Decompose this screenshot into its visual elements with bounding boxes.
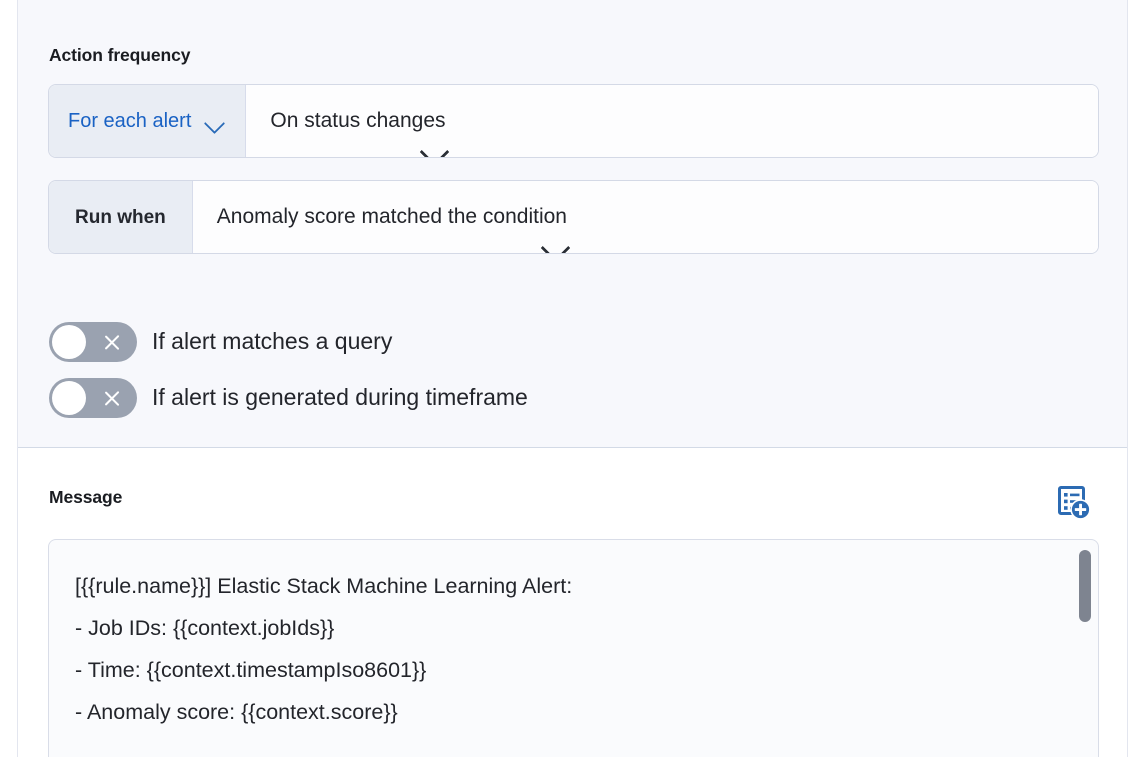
chevron-down-icon <box>204 115 226 128</box>
message-textarea-wrapper[interactable]: [{{rule.name}}] Elastic Stack Machine Le… <box>49 540 1098 757</box>
action-frequency-heading: Action frequency <box>49 44 190 67</box>
toggle-knob <box>52 325 86 359</box>
message-scrollbar[interactable] <box>1078 546 1092 757</box>
toggle-label-alert-matches-query: If alert matches a query <box>152 328 392 356</box>
frequency-field-row: For each alert On status changes <box>49 85 1098 157</box>
toggle-row-alert-matches-query: If alert matches a query <box>49 322 392 362</box>
run-when-field-row: Run when Anomaly score matched the condi… <box>49 181 1098 253</box>
action-flyout-panel: Action frequency For each alert On statu… <box>17 0 1128 757</box>
close-icon <box>103 389 122 408</box>
run-when-select[interactable]: Anomaly score matched the condition <box>193 181 1098 253</box>
frequency-select[interactable]: On status changes <box>246 85 1098 157</box>
for-each-alert-label: For each alert <box>68 111 191 131</box>
toggle-label-alert-timeframe: If alert is generated during timeframe <box>152 384 528 412</box>
add-variable-icon <box>1057 486 1091 520</box>
toggle-alert-matches-query[interactable] <box>49 322 137 362</box>
for-each-alert-dropdown-button[interactable]: For each alert <box>49 85 246 157</box>
chevron-down-icon <box>420 140 450 157</box>
add-variable-icon-button[interactable] <box>1057 486 1091 520</box>
run-when-selected-value: Anomaly score matched the condition <box>217 204 567 229</box>
toggle-row-alert-timeframe: If alert is generated during timeframe <box>49 378 528 418</box>
message-textarea[interactable]: [{{rule.name}}] Elastic Stack Machine Le… <box>75 565 1050 733</box>
frequency-selected-value: On status changes <box>270 108 445 133</box>
toggle-knob <box>52 381 86 415</box>
run-when-label: Run when <box>75 208 166 227</box>
screen-root: Action frequency For each alert On statu… <box>0 0 1145 757</box>
run-when-label-prepend: Run when <box>49 181 193 253</box>
message-scrollbar-thumb[interactable] <box>1079 550 1091 622</box>
toggle-alert-generated-during-timeframe[interactable] <box>49 378 137 418</box>
chevron-down-icon <box>541 236 571 253</box>
action-frequency-section: Action frequency For each alert On statu… <box>18 0 1127 448</box>
close-icon <box>103 333 122 352</box>
message-heading: Message <box>49 486 122 509</box>
